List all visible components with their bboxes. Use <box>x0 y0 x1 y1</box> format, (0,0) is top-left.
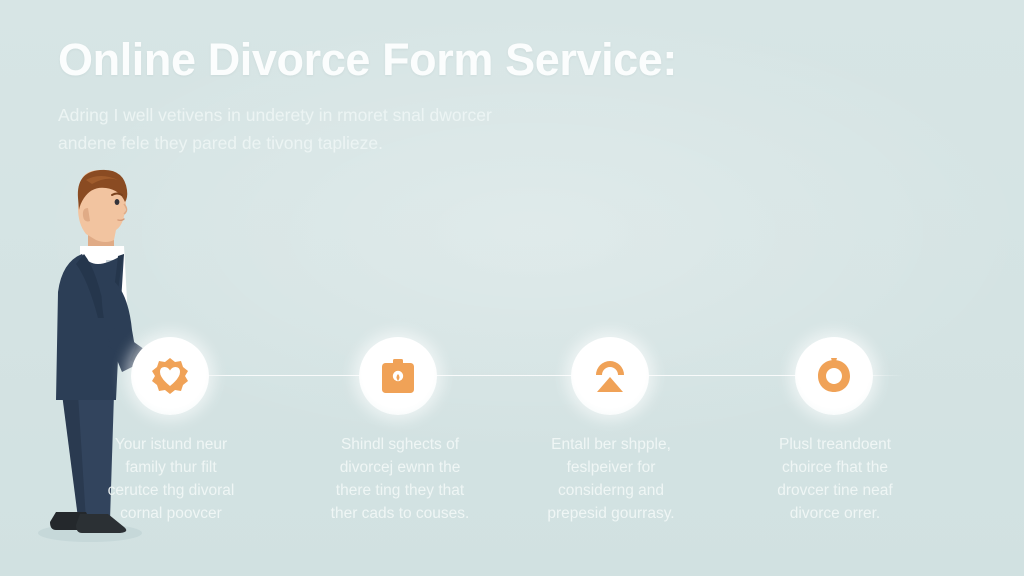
timeline-node-2-circle[interactable] <box>359 337 437 415</box>
process-timeline <box>0 330 1024 430</box>
page-subtitle: Adring I well vetivens in underety in rm… <box>58 101 658 158</box>
timeline-node-4[interactable] <box>788 330 880 422</box>
timeline-node-1-circle[interactable] <box>131 337 209 415</box>
timeline-caption-3: Entall ber shpple, feslpeiver for consid… <box>513 434 709 526</box>
infographic-canvas: Online Divorce Form Service: Adring I we… <box>0 0 1024 576</box>
caption-4-line-2: choirce fhat the <box>782 459 888 476</box>
timeline-caption-4: Plusl treandoent choirce fhat the drovce… <box>737 434 933 526</box>
subtitle-line-2: andene fele they pared de tivong tapliez… <box>58 133 383 153</box>
caption-2-line-1: Shindl sghects of <box>341 436 459 453</box>
timeline-node-1[interactable] <box>124 330 216 422</box>
ring-icon <box>814 356 854 396</box>
umbrella-shelter-icon <box>590 356 630 396</box>
subtitle-line-1: Adring I well vetivens in underety in rm… <box>58 105 492 125</box>
caption-3-line-2: feslpeiver for <box>567 459 656 476</box>
caption-1-line-1: Your istund neur <box>115 436 227 453</box>
timeline-node-3[interactable] <box>564 330 656 422</box>
clipboard-icon <box>378 356 418 396</box>
timeline-node-2[interactable] <box>352 330 444 422</box>
eye <box>115 199 120 205</box>
header: Online Divorce Form Service: Adring I we… <box>58 36 938 157</box>
caption-1-line-4: cornal poovcer <box>120 505 222 522</box>
caption-2-line-4: ther cads to couses. <box>331 505 470 522</box>
timeline-node-3-circle[interactable] <box>571 337 649 415</box>
caption-3-line-4: prepesid gourrasy. <box>547 505 674 522</box>
caption-4-line-4: divorce orrer. <box>790 505 880 522</box>
caption-3-line-3: considerng and <box>558 482 664 499</box>
caption-4-line-3: drovcer tine neaf <box>777 482 892 499</box>
caption-3-line-1: Entall ber shpple, <box>551 436 671 453</box>
timeline-node-4-circle[interactable] <box>795 337 873 415</box>
timeline-caption-2: Shindl sghects of divorcej ewnn the ther… <box>302 434 498 526</box>
heart-seal-icon <box>150 356 190 396</box>
caption-2-line-2: divorcej ewnn the <box>340 459 461 476</box>
caption-2-line-3: there ting they that <box>336 482 464 499</box>
timeline-caption-1: Your istund neur family thur filt cerutc… <box>73 434 269 526</box>
page-title: Online Divorce Form Service: <box>58 36 938 85</box>
caption-1-line-2: family thur filt <box>125 459 216 476</box>
caption-4-line-1: Plusl treandoent <box>779 436 891 453</box>
caption-1-line-3: cerutce thg divoral <box>108 482 235 499</box>
